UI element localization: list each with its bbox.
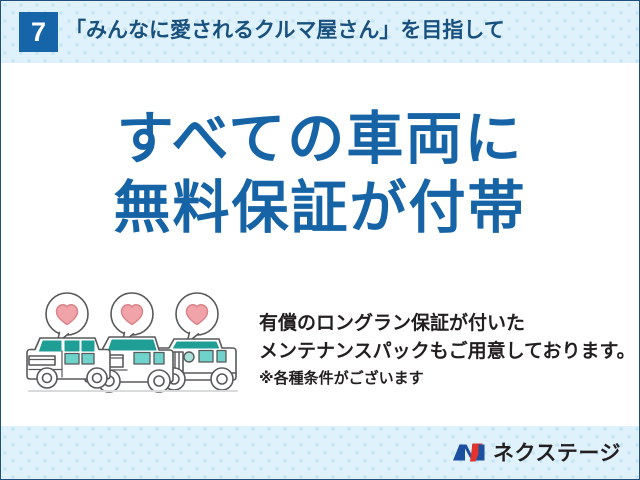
cars-illustration [23, 291, 245, 403]
content-panel: すべての車両に 無料保証が付帯 [1, 63, 639, 426]
body-copy: 有償のロングラン保証が付いた メンテナンスパックもご用意しております。 ※各種条… [259, 310, 627, 392]
speech-bubble-3 [176, 293, 218, 343]
speech-bubble-1 [46, 293, 88, 343]
speech-bubble-2 [111, 293, 153, 343]
brand-logo-text: ネクステージ [493, 437, 621, 467]
header-title: 「みんなに愛されるクルマ屋さん」を目指して [65, 14, 505, 44]
section-number-badge: 7 [19, 12, 58, 52]
minivan-icon [27, 338, 110, 388]
nexstage-n-logo-icon [452, 440, 486, 465]
brand-logo: ネクステージ [452, 437, 621, 467]
headline: すべての車両に 無料保証が付帯 [1, 105, 639, 243]
headline-line-1: すべての車両に [1, 105, 639, 174]
body-copy-line-3: ※各種条件がございます [259, 366, 627, 392]
body-copy-line-2: メンテナンスパックもご用意しております。 [259, 338, 627, 366]
promo-slide: 7 「みんなに愛されるクルマ屋さん」を目指して すべての車両に 無料保証が付帯 [0, 0, 640, 480]
header: 7 「みんなに愛されるクルマ屋さん」を目指して [1, 1, 639, 63]
footer: ネクステージ [1, 425, 639, 479]
headline-line-2: 無料保証が付帯 [1, 174, 639, 243]
body-copy-line-1: 有償のロングラン保証が付いた [259, 310, 627, 338]
